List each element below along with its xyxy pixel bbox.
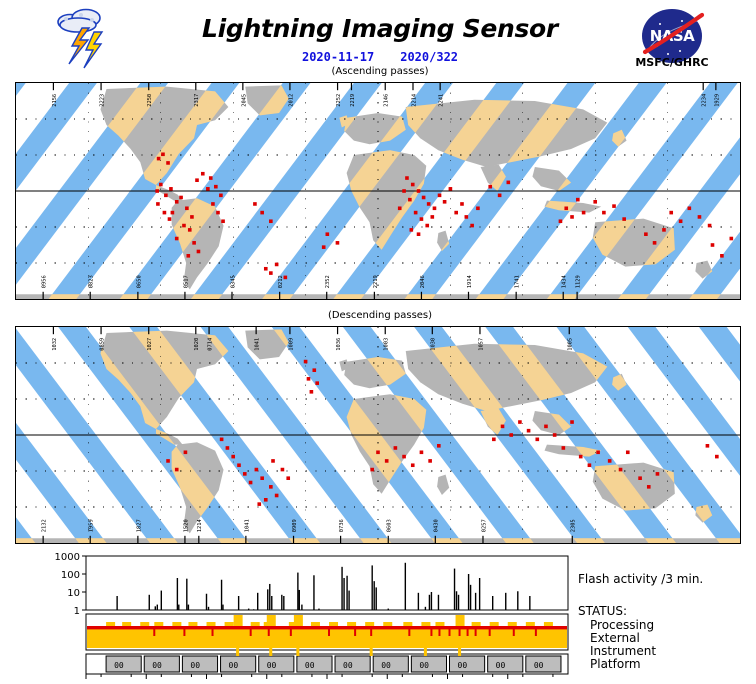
svg-text:2305: 2305 xyxy=(571,519,577,532)
svg-text:2132: 2132 xyxy=(42,519,48,532)
svg-text:2156: 2156 xyxy=(52,94,58,107)
svg-text:2219: 2219 xyxy=(350,94,356,107)
date-iso: 2020-11-17 xyxy=(302,50,374,64)
svg-text:100: 100 xyxy=(61,570,80,581)
svg-text:1214: 1214 xyxy=(197,519,203,532)
svg-text:1741: 1741 xyxy=(515,275,521,288)
svg-text:0257: 0257 xyxy=(481,519,487,532)
svg-text:10: 10 xyxy=(67,588,80,599)
svg-text:1057: 1057 xyxy=(478,338,484,351)
svg-text:2046: 2046 xyxy=(420,275,426,288)
agency-label: MSFC/GHRC xyxy=(624,56,720,69)
svg-text:0212: 0212 xyxy=(278,275,284,288)
svg-text:1520: 1520 xyxy=(183,519,189,532)
svg-text:1929: 1929 xyxy=(714,94,720,107)
svg-text:00: 00 xyxy=(419,661,429,670)
svg-text:00: 00 xyxy=(496,661,506,670)
svg-text:2012: 2012 xyxy=(288,94,294,107)
caption-ascending: (Ascending passes) xyxy=(180,66,580,77)
svg-text:1005: 1005 xyxy=(568,338,574,351)
svg-text:1003: 1003 xyxy=(384,338,390,351)
svg-text:00: 00 xyxy=(534,661,544,670)
svg-text:2234: 2234 xyxy=(702,94,708,107)
map-descending-passes[interactable]: 1032085910271020071410411009103610031030… xyxy=(15,326,741,544)
svg-text:1827: 1827 xyxy=(136,519,142,532)
svg-text:2250: 2250 xyxy=(147,94,153,107)
svg-text:0603: 0603 xyxy=(387,519,393,532)
map-ascending-passes[interactable]: 2156222322502317204520122252221921462214… xyxy=(15,82,741,300)
svg-text:0714: 0714 xyxy=(207,338,213,351)
legend-status-processing: Processing xyxy=(590,618,654,632)
legend-status-instrument: Instrument xyxy=(590,644,656,658)
page-header: Lightning Imaging Sensor 2020-11-172020/… xyxy=(0,0,756,78)
thunderstorm-icon xyxy=(48,6,118,72)
svg-text:1434: 1434 xyxy=(562,275,568,288)
svg-text:00: 00 xyxy=(381,661,391,670)
legend-flash-activity: Flash activity /3 min. xyxy=(578,572,703,586)
svg-text:0823: 0823 xyxy=(89,275,95,288)
svg-text:2223: 2223 xyxy=(99,94,105,107)
svg-text:00: 00 xyxy=(190,661,200,670)
svg-text:2317: 2317 xyxy=(194,94,200,107)
svg-text:1020: 1020 xyxy=(194,338,200,351)
svg-text:1000: 1000 xyxy=(55,552,80,563)
legend-status-platform: Platform xyxy=(590,657,641,671)
svg-text:0909: 0909 xyxy=(292,519,298,532)
svg-text:2352: 2352 xyxy=(325,275,331,288)
svg-text:0430: 0430 xyxy=(434,519,440,532)
svg-text:2252: 2252 xyxy=(336,94,342,107)
svg-text:0650: 0650 xyxy=(136,275,142,288)
svg-text:00: 00 xyxy=(152,661,162,670)
svg-text:2241: 2241 xyxy=(439,94,445,107)
svg-text:2219: 2219 xyxy=(373,275,379,288)
caption-descending: (Descending passes) xyxy=(180,310,580,321)
page-title: Lightning Imaging Sensor xyxy=(180,14,580,43)
svg-text:0517: 0517 xyxy=(183,275,189,288)
svg-text:00: 00 xyxy=(229,661,239,670)
svg-text:0345: 0345 xyxy=(230,275,236,288)
svg-text:1129: 1129 xyxy=(576,275,582,288)
svg-text:1041: 1041 xyxy=(244,519,250,532)
svg-text:1036: 1036 xyxy=(336,338,342,351)
date-doy: 2020/322 xyxy=(400,50,458,64)
svg-text:00: 00 xyxy=(458,661,468,670)
legend-status-external: External xyxy=(590,631,640,645)
svg-text:1041: 1041 xyxy=(255,338,261,351)
svg-text:0736: 0736 xyxy=(339,519,345,532)
svg-text:1030: 1030 xyxy=(431,338,437,351)
svg-text:1914: 1914 xyxy=(467,275,473,288)
svg-text:00: 00 xyxy=(114,661,124,670)
svg-text:00: 00 xyxy=(267,661,277,670)
svg-text:1: 1 xyxy=(74,606,80,617)
svg-text:2214: 2214 xyxy=(411,94,417,107)
date-bar: 2020-11-172020/322 xyxy=(180,50,580,64)
svg-text:1009: 1009 xyxy=(288,338,294,351)
svg-text:1027: 1027 xyxy=(147,338,153,351)
svg-text:2146: 2146 xyxy=(384,94,390,107)
svg-text:0859: 0859 xyxy=(99,338,105,351)
svg-text:1032: 1032 xyxy=(52,338,58,351)
svg-text:1959: 1959 xyxy=(89,519,95,532)
legend-status-title: STATUS: xyxy=(578,604,627,618)
svg-text:2045: 2045 xyxy=(241,94,247,107)
svg-text:0956: 0956 xyxy=(42,275,48,288)
svg-text:00: 00 xyxy=(305,661,315,670)
svg-text:00: 00 xyxy=(343,661,353,670)
